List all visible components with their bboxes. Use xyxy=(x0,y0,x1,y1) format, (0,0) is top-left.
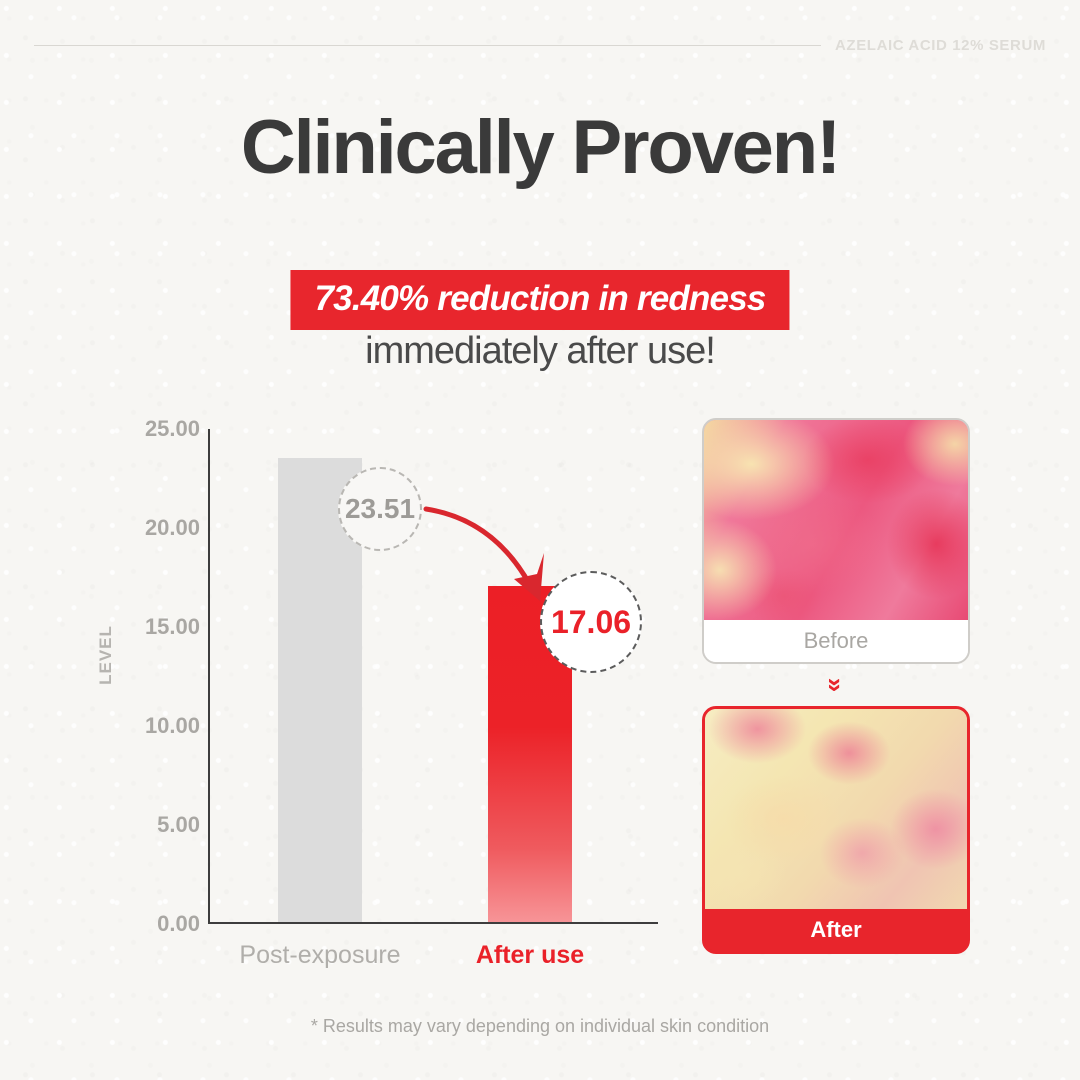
product-label: AZELAIC ACID 12% SERUM xyxy=(835,37,1046,54)
disclaimer-footnote: * Results may vary depending on individu… xyxy=(0,1016,1080,1037)
plot-area: 23.51 17.06 Post-exposure After use xyxy=(208,429,658,924)
x-label-post-exposure: Post-exposure xyxy=(205,941,435,970)
infographic-page: AZELAIC ACID 12% SERUM Clinically Proven… xyxy=(0,0,1080,1080)
value-bubble-post-exposure: 23.51 xyxy=(338,467,422,551)
before-after-comparison: Before » After xyxy=(702,418,970,954)
y-tick-20: 20.00 xyxy=(112,515,200,541)
after-caption: After xyxy=(705,909,967,951)
y-tick-0: 0.00 xyxy=(112,911,200,937)
reduction-banner: 73.40% reduction in redness xyxy=(290,270,789,330)
value-bubble-post-exposure-text: 23.51 xyxy=(345,493,415,525)
redness-bar-chart: LEVEL 25.00 20.00 15.00 10.00 5.00 0.00 … xyxy=(60,415,670,975)
reduction-banner-text: 73.40% reduction in redness xyxy=(314,279,765,318)
subheadline: immediately after use! xyxy=(0,330,1080,373)
before-skin-photo xyxy=(704,420,968,620)
header-divider xyxy=(34,45,821,46)
y-tick-5: 5.00 xyxy=(112,812,200,838)
x-label-after-use: After use xyxy=(415,941,645,970)
y-tick-15: 15.00 xyxy=(112,614,200,640)
header-bar: AZELAIC ACID 12% SERUM xyxy=(34,30,1046,60)
value-bubble-after-use-text: 17.06 xyxy=(551,604,631,641)
y-tick-10: 10.00 xyxy=(112,713,200,739)
value-bubble-after-use: 17.06 xyxy=(540,571,642,673)
after-card: After xyxy=(702,706,970,954)
after-skin-photo xyxy=(705,709,967,909)
page-title: Clinically Proven! xyxy=(0,104,1080,191)
before-caption: Before xyxy=(704,620,968,662)
before-card: Before xyxy=(702,418,970,664)
y-tick-25: 25.00 xyxy=(112,416,200,442)
double-chevron-down-icon: » xyxy=(823,678,849,692)
y-axis-title: LEVEL xyxy=(96,595,116,715)
comparison-divider: » xyxy=(702,664,970,706)
